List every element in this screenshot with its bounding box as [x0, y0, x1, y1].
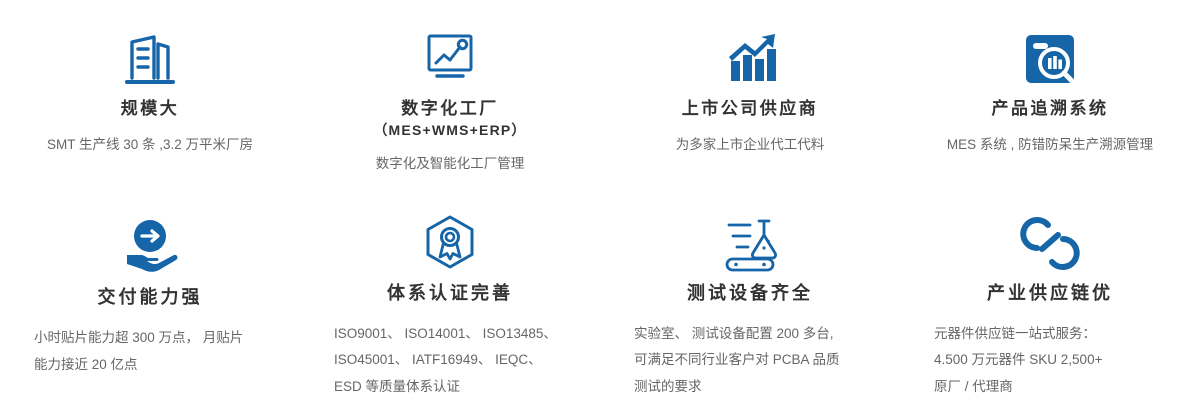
feature-card-listed-supplier[interactable]: 上市公司供应商 为多家上市企业代工代料 [600, 0, 900, 185]
feature-desc-line: 小时贴片能力超 300 万点， 月贴片 [34, 325, 266, 351]
digital-factory-chart-icon [410, 26, 490, 92]
feature-title-main: 数字化工厂 [401, 99, 499, 118]
feature-title: 交付能力强 [98, 285, 203, 309]
feature-desc-line: 数字化及智能化工厂管理 [376, 156, 525, 171]
feature-title: 上市公司供应商 [682, 98, 819, 121]
feature-title: 测试设备齐全 [687, 281, 813, 305]
feature-title-main: 交付能力强 [98, 287, 203, 307]
supply-chain-link-icon [1010, 211, 1090, 277]
feature-description: ISO9001、 ISO14001、 ISO13485、 ISO45001、 I… [334, 321, 566, 400]
features-grid: 规模大 SMT 生产线 30 条 ,3.2 万平米厂房 数字化工厂 （MES+W… [0, 0, 1200, 400]
feature-card-certification[interactable]: 体系认证完善 ISO9001、 ISO14001、 ISO13485、 ISO4… [300, 185, 600, 400]
product-traceability-search-icon [1010, 26, 1090, 92]
test-equipment-flask-conveyor-icon [710, 211, 790, 277]
feature-desc-line: 能力接近 20 亿点 [34, 352, 266, 378]
feature-desc-line: ESD 等质量体系认证 [334, 374, 566, 400]
feature-card-traceability[interactable]: 产品追溯系统 MES 系统 , 防错防呆生产溯源管理 [900, 0, 1200, 185]
factory-building-icon [110, 26, 190, 92]
feature-card-test-equipment[interactable]: 测试设备齐全 实验室、 测试设备配置 200 多台, 可满足不同行业客户对 PC… [600, 185, 900, 400]
feature-desc-line: 测试的要求 [634, 374, 866, 400]
feature-title-sub: （MES+WMS+ERP） [373, 121, 526, 140]
hand-delivery-arrow-icon [110, 211, 190, 281]
feature-description: 为多家上市企业代工代料 [610, 135, 890, 155]
feature-card-scale[interactable]: 规模大 SMT 生产线 30 条 ,3.2 万平米厂房 [0, 0, 300, 185]
feature-card-delivery[interactable]: 交付能力强 小时贴片能力超 300 万点， 月贴片 能力接近 20 亿点 [0, 185, 300, 400]
feature-title-main: 产业供应链优 [987, 283, 1113, 303]
feature-desc-line: 原厂 / 代理商 [934, 374, 1166, 400]
certification-medal-hexagon-icon [410, 211, 490, 277]
feature-description: 数字化及智能化工厂管理 [310, 154, 590, 174]
feature-desc-line: 元器件供应链一站式服务： [934, 321, 1166, 347]
feature-title: 产业供应链优 [987, 281, 1113, 305]
feature-desc-line: ISO45001、 IATF16949、 IEQC、 [334, 347, 566, 373]
feature-description: 元器件供应链一站式服务： 4.500 万元器件 SKU 2,500+ 原厂 / … [934, 321, 1166, 400]
feature-card-digital-factory[interactable]: 数字化工厂 （MES+WMS+ERP） 数字化及智能化工厂管理 [300, 0, 600, 185]
feature-title: 数字化工厂 （MES+WMS+ERP） [373, 98, 526, 140]
feature-desc-line: 实验室、 测试设备配置 200 多台, [634, 321, 866, 347]
feature-desc-line: 可满足不同行业客户对 PCBA 品质 [634, 347, 866, 373]
feature-description: MES 系统 , 防错防呆生产溯源管理 [910, 135, 1190, 155]
growth-bar-chart-icon [710, 26, 790, 92]
feature-title-main: 产品追溯系统 [992, 99, 1109, 118]
feature-description: SMT 生产线 30 条 ,3.2 万平米厂房 [10, 135, 290, 155]
feature-title-main: 上市公司供应商 [682, 99, 819, 118]
feature-desc-line: SMT 生产线 30 条 ,3.2 万平米厂房 [47, 137, 253, 152]
feature-desc-line: MES 系统 , 防错防呆生产溯源管理 [947, 137, 1153, 152]
feature-desc-line: 为多家上市企业代工代料 [676, 137, 825, 152]
feature-title-main: 规模大 [121, 99, 180, 118]
feature-card-supply-chain[interactable]: 产业供应链优 元器件供应链一站式服务： 4.500 万元器件 SKU 2,500… [900, 185, 1200, 400]
feature-description: 小时贴片能力超 300 万点， 月贴片 能力接近 20 亿点 [34, 325, 266, 378]
feature-desc-line: 4.500 万元器件 SKU 2,500+ [934, 347, 1166, 373]
feature-desc-line: ISO9001、 ISO14001、 ISO13485、 [334, 321, 566, 347]
feature-title-main: 体系认证完善 [387, 283, 513, 303]
feature-title: 体系认证完善 [387, 281, 513, 305]
feature-description: 实验室、 测试设备配置 200 多台, 可满足不同行业客户对 PCBA 品质 测… [634, 321, 866, 400]
feature-title-main: 测试设备齐全 [687, 283, 813, 303]
feature-title: 规模大 [121, 98, 180, 121]
feature-title: 产品追溯系统 [992, 98, 1109, 121]
